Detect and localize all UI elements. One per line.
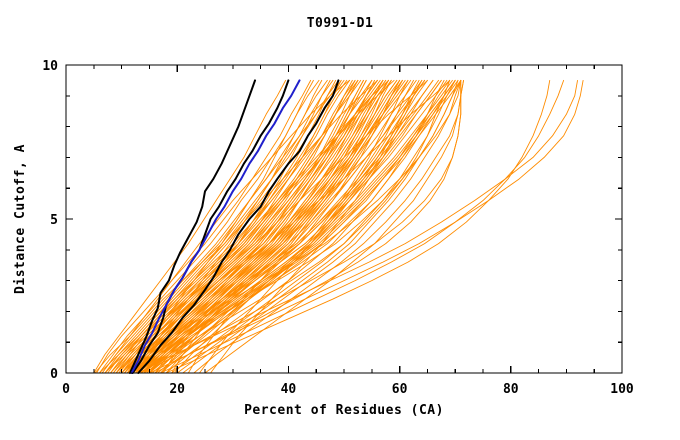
x-tick-label: 0 [62, 382, 70, 397]
x-axis-label: Percent of Residues (CA) [244, 403, 444, 418]
x-tick-label: 60 [392, 382, 408, 397]
chart-figure: T0991-D1 020406080100 0510 Percent of Re… [0, 0, 680, 440]
x-tick-label: 40 [281, 382, 297, 397]
chart-title: T0991-D1 [307, 16, 374, 31]
y-tick-label: 0 [50, 367, 58, 382]
chart-canvas: T0991-D1 020406080100 0510 Percent of Re… [0, 0, 680, 440]
y-tick-label: 5 [50, 213, 58, 228]
x-tick-label: 80 [503, 382, 519, 397]
y-tick-label: 10 [42, 59, 58, 74]
x-tick-label: 100 [610, 382, 634, 397]
y-axis-label: Distance Cutoff, A [13, 144, 28, 294]
x-tick-label: 20 [169, 382, 185, 397]
